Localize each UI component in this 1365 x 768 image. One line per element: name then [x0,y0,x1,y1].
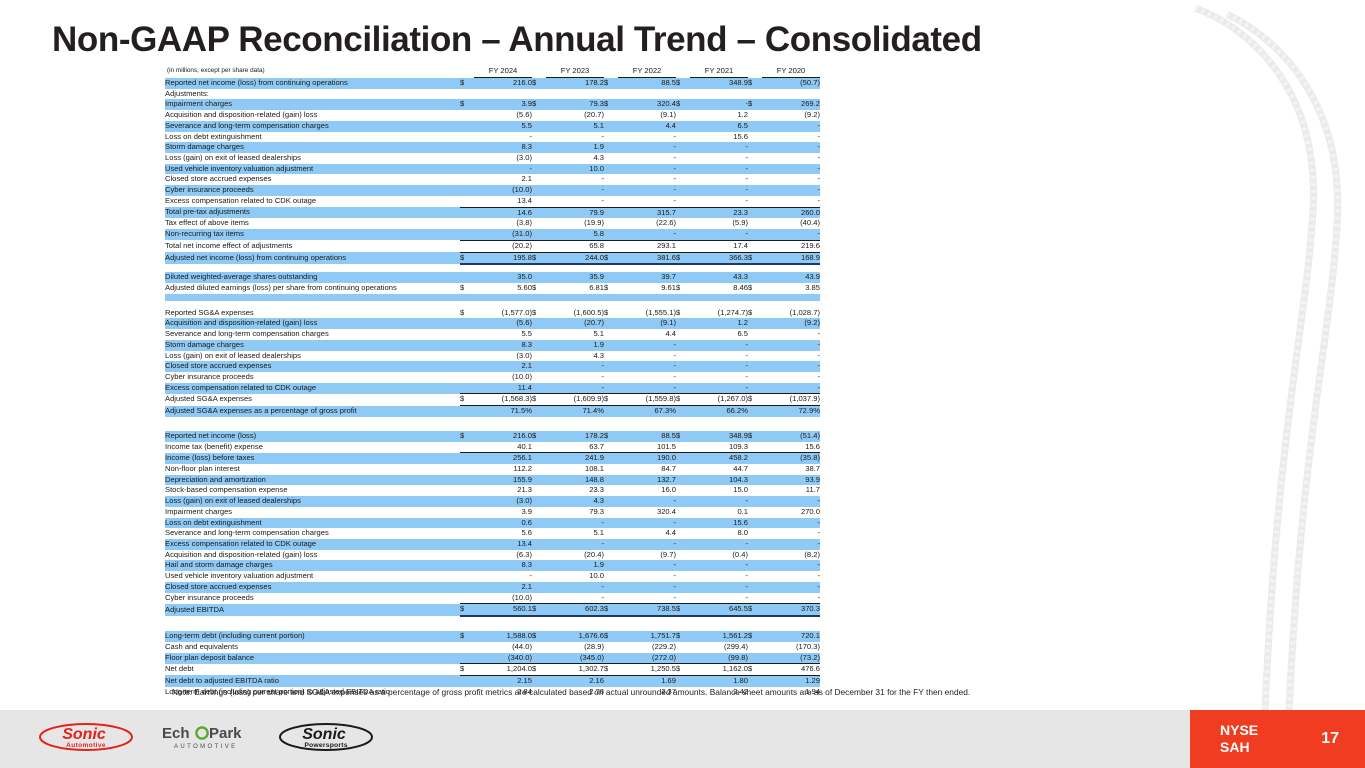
currency-symbol-cell [532,653,546,664]
value-cell: - [546,196,604,207]
currency-symbol-cell [676,207,690,218]
value-cell: 2.1 [474,582,532,593]
value-cell: 244.0 [546,252,604,264]
currency-symbol-cell [532,207,546,218]
currency-symbol-cell [532,496,546,507]
currency-symbol-cell [460,340,474,351]
value-cell: - [690,99,748,110]
value-cell: (272.0) [618,653,676,664]
value-cell: - [690,582,748,593]
value-cell: (0.4) [690,550,748,561]
currency-symbol-cell [532,464,546,475]
value-cell: 109.3 [690,442,748,453]
currency-symbol-cell [748,272,762,283]
table-row: Cash and equivalents(44.0)(28.9)(229.2)(… [165,642,820,653]
value-cell: 155.9 [474,475,532,486]
currency-symbol-cell: $ [748,99,762,110]
value-cell: - [690,361,748,372]
value-cell: 1.80 [690,675,748,686]
nyse-ticker-badge: NYSE SAH 17 [1190,710,1365,768]
table-row: Severance and long-term compensation cha… [165,528,820,539]
currency-symbol-cell [460,229,474,240]
value-cell: - [474,132,532,143]
currency-symbol-cell [748,507,762,518]
table-row: Loss on debt extinguishment---15.6- [165,132,820,143]
row-label: Severance and long-term compensation cha… [165,528,460,539]
value-cell: - [690,571,748,582]
currency-symbol-cell [604,539,618,550]
value-cell: - [546,185,604,196]
spacer-cell [165,264,820,272]
currency-symbol-cell: $ [676,308,690,319]
value-cell: - [762,582,820,593]
currency-symbol-cell [604,372,618,383]
currency-symbol-cell [748,642,762,653]
value-cell: 15.6 [690,518,748,529]
value-cell: 1,561.2 [690,631,748,642]
currency-symbol-cell [676,372,690,383]
row-label: Hail and storm damage charges [165,560,460,571]
value-cell: (51.4) [762,431,820,442]
value-cell: 148.8 [546,475,604,486]
table-row: Reported net income (loss)$216.0$178.2$8… [165,431,820,442]
row-label: Used vehicle inventory valuation adjustm… [165,164,460,175]
value-cell: (299.4) [690,642,748,653]
value-cell: - [690,153,748,164]
value-cell: - [690,174,748,185]
table-row: Closed store accrued expenses2.1---- [165,174,820,185]
value-cell: - [618,383,676,394]
value-cell: (10.0) [474,372,532,383]
currency-symbol-cell [460,675,474,686]
table-row: Total net income effect of adjustments(2… [165,240,820,252]
value-cell: 1,250.5 [618,664,676,676]
currency-symbol-cell [748,361,762,372]
currency-symbol-cell [532,539,546,550]
currency-symbol-cell [676,229,690,240]
value-cell: 4.3 [546,496,604,507]
currency-symbol-cell [604,485,618,496]
value-cell: 8.0 [690,528,748,539]
value-cell: 63.7 [546,442,604,453]
currency-symbol-cell [460,121,474,132]
value-cell: 2.1 [474,361,532,372]
currency-symbol-cell [532,383,546,394]
currency-symbol-cell [532,485,546,496]
value-cell: (1,577.0) [474,308,532,319]
value-cell: - [618,571,676,582]
currency-symbol-cell [532,218,546,229]
currency-symbol-cell: $ [532,308,546,319]
value-cell: 178.2 [546,431,604,442]
currency-symbol-cell [748,653,762,664]
value-cell: (19.9) [546,218,604,229]
currency-symbol-cell: $ [676,252,690,264]
currency-symbol-cell [460,453,474,464]
value-cell: 1,751.7 [618,631,676,642]
currency-symbol-cell [748,351,762,362]
value-cell: 1.2 [690,318,748,329]
value-cell: 6.5 [690,121,748,132]
value-cell: 104.3 [690,475,748,486]
currency-symbol-cell [748,329,762,340]
value-cell: (5.9) [690,218,748,229]
currency-symbol-cell: $ [604,631,618,642]
row-label: Storm damage charges [165,142,460,153]
currency-symbol-cell [748,383,762,394]
currency-symbol-cell [460,372,474,383]
currency-symbol-cell [748,528,762,539]
currency-symbol-cell [748,164,762,175]
currency-symbol-cell [532,571,546,582]
value-cell: 1.29 [762,675,820,686]
currency-symbol-cell [604,329,618,340]
row-label: Non-recurring tax items [165,229,460,240]
row-label: Loss on debt extinguishment [165,518,460,529]
svg-text:Automotive: Automotive [66,742,106,749]
currency-symbol-cell: $ [460,604,474,616]
currency-symbol-cell: $ [604,431,618,442]
value-cell: 3.9 [474,507,532,518]
currency-symbol-cell [532,518,546,529]
currency-symbol-cell: $ [532,78,546,89]
value-cell: - [762,361,820,372]
value-cell: 1.9 [546,560,604,571]
currency-symbol-cell [676,218,690,229]
page-number: 17 [1321,730,1339,748]
currency-symbol-cell [676,164,690,175]
row-label: Cyber insurance proceeds [165,372,460,383]
currency-symbol-cell: $ [604,283,618,294]
value-cell: 1,204.0 [474,664,532,676]
value-cell: - [762,528,820,539]
currency-symbol-cell [460,89,474,100]
row-label: Net debt [165,664,460,676]
value-cell: - [546,361,604,372]
currency-symbol-cell [532,442,546,453]
row-label: Floor plan deposit balance [165,653,460,664]
value-cell: 79.3 [546,99,604,110]
currency-symbol-cell [676,142,690,153]
currency-symbol-cell [604,132,618,143]
value-cell: 3.9 [474,99,532,110]
value-cell: - [618,196,676,207]
currency-symbol-cell [676,110,690,121]
value-cell: - [762,372,820,383]
value-cell: (10.0) [474,593,532,604]
value-cell: 79.3 [546,507,604,518]
tire-track-watermark [1185,0,1365,712]
spacer-cell [165,616,820,624]
value-cell: - [690,560,748,571]
value-cell: 0.6 [474,518,532,529]
row-label: Loss (gain) on exit of leased dealership… [165,153,460,164]
table-footnote: Note: Earnings (loss) per share and SG&A… [172,687,970,697]
currency-symbol-cell: $ [748,431,762,442]
value-cell: 23.3 [690,207,748,218]
value-cell: - [762,383,820,394]
currency-symbol-cell [460,528,474,539]
currency-symbol-cell [676,496,690,507]
value-cell: 11.7 [762,485,820,496]
value-cell: - [618,153,676,164]
row-label: Adjusted net income (loss) from continui… [165,252,460,264]
currency-symbol-cell [676,329,690,340]
currency-symbol-cell [460,475,474,486]
value-cell: 1,676.6 [546,631,604,642]
row-label: Impairment charges [165,507,460,518]
currency-symbol-cell [604,442,618,453]
currency-symbol-cell [532,229,546,240]
value-cell: 35.0 [474,272,532,283]
value-cell: 2.16 [546,675,604,686]
table-row: Acquisition and disposition-related (gai… [165,318,820,329]
currency-symbol-cell [460,110,474,121]
currency-symbol-cell [676,593,690,604]
currency-symbol-cell [676,560,690,571]
currency-symbol-cell: $ [532,604,546,616]
currency-symbol-cell [676,653,690,664]
value-cell: - [762,164,820,175]
value-cell: (1,555.1) [618,308,676,319]
currency-symbol-cell: $ [676,99,690,110]
currency-symbol-cell [604,642,618,653]
currency-symbol-cell: $ [676,431,690,442]
value-cell: - [690,539,748,550]
currency-symbol-cell: $ [748,252,762,264]
currency-symbol-cell [460,642,474,653]
currency-symbol-cell [460,272,474,283]
currency-symbol-cell: $ [604,99,618,110]
currency-symbol-cell [748,240,762,252]
value-cell: - [474,571,532,582]
value-cell: 44.7 [690,464,748,475]
value-cell: - [618,351,676,362]
currency-symbol-cell [532,507,546,518]
currency-symbol-cell [604,207,618,218]
currency-symbol-cell [676,571,690,582]
row-label: Total pre-tax adjustments [165,207,460,218]
value-cell: - [690,496,748,507]
value-cell: - [762,593,820,604]
value-cell: 5.1 [546,329,604,340]
table-row: Floor plan deposit balance(340.0)(345.0)… [165,653,820,664]
row-label: Acquisition and disposition-related (gai… [165,318,460,329]
currency-symbol-cell [460,539,474,550]
row-label: Net debt to adjusted EBITDA ratio [165,675,460,686]
currency-symbol-cell [532,185,546,196]
row-label: Severance and long-term compensation cha… [165,329,460,340]
value-cell [690,89,748,100]
value-cell: (1,028.7) [762,308,820,319]
currency-symbol-cell [460,240,474,252]
currency-symbol-cell: $ [748,394,762,406]
table-spacer-row [165,417,820,424]
table-row: Income (loss) before taxes256.1241.9190.… [165,453,820,464]
currency-symbol-cell [532,240,546,252]
value-cell: (99.8) [690,653,748,664]
currency-symbol-cell [748,372,762,383]
currency-symbol-cell: $ [748,664,762,676]
value-cell: 645.5 [690,604,748,616]
value-cell: 269.2 [762,99,820,110]
table-row: Non-recurring tax items(31.0)5.8--- [165,229,820,240]
value-cell: - [618,582,676,593]
table-row: Adjusted net income (loss) from continui… [165,252,820,264]
row-label: Reported net income (loss) [165,431,460,442]
value-cell: 15.6 [690,132,748,143]
svg-text:Sonic: Sonic [62,726,106,743]
currency-symbol-cell [460,550,474,561]
currency-symbol-cell [604,361,618,372]
currency-symbol-cell: $ [676,604,690,616]
table-row: Net debt$1,204.0$1,302.7$1,250.5$1,162.0… [165,664,820,676]
row-label: Reported net income (loss) from continui… [165,78,460,89]
table-spacer-row [165,624,820,631]
currency-symbol-cell [532,372,546,383]
value-cell: 43.9 [762,272,820,283]
currency-symbol-cell: $ [532,631,546,642]
currency-symbol-cell: $ [748,308,762,319]
currency-symbol-cell [676,453,690,464]
value-cell: 9.61 [618,283,676,294]
currency-symbol-cell [676,132,690,143]
currency-symbol-cell [604,196,618,207]
row-label: Cyber insurance proceeds [165,593,460,604]
value-cell: (20.4) [546,550,604,561]
value-cell: (20.2) [474,240,532,252]
currency-symbol-cell [676,361,690,372]
exchange-name: NYSE [1220,722,1258,739]
table-row: Loss (gain) on exit of leased dealership… [165,496,820,507]
header-spacer-cell [460,64,474,78]
row-label: Cash and equivalents [165,642,460,653]
currency-symbol-cell [748,132,762,143]
value-cell: 195.8 [474,252,532,264]
row-label: Loss (gain) on exit of leased dealership… [165,351,460,362]
table-row: Stock-based compensation expense21.323.3… [165,485,820,496]
value-cell [546,89,604,100]
value-cell: (3.0) [474,496,532,507]
value-cell: 8.3 [474,560,532,571]
value-cell: 21.3 [474,485,532,496]
currency-symbol-cell [604,496,618,507]
currency-symbol-cell: $ [460,431,474,442]
table-row: Net debt to adjusted EBITDA ratio2.152.1… [165,675,820,686]
table-row: Excess compensation related to CDK outag… [165,539,820,550]
value-cell: 720.1 [762,631,820,642]
currency-symbol-cell: $ [748,283,762,294]
value-cell: - [762,340,820,351]
value-cell: (9.7) [618,550,676,561]
currency-symbol-cell: $ [748,604,762,616]
value-cell: 241.9 [546,453,604,464]
currency-symbol-cell: $ [532,252,546,264]
value-cell [618,89,676,100]
currency-symbol-cell: $ [460,99,474,110]
value-cell: 602.3 [546,604,604,616]
value-cell: 40.1 [474,442,532,453]
currency-symbol-cell [460,653,474,664]
value-cell: 1.2 [690,110,748,121]
currency-symbol-cell [676,464,690,475]
currency-symbol-cell [748,518,762,529]
value-cell: 88.5 [618,78,676,89]
value-cell: (1,037.9) [762,394,820,406]
value-cell: (73.2) [762,653,820,664]
currency-symbol-cell [748,340,762,351]
table-row: Hail and storm damage charges8.31.9--- [165,560,820,571]
currency-symbol-cell [460,507,474,518]
value-cell: - [690,185,748,196]
value-cell: 5.1 [546,121,604,132]
currency-symbol-cell [748,539,762,550]
currency-symbol-cell [604,560,618,571]
table-row: Storm damage charges8.31.9--- [165,142,820,153]
currency-symbol-cell [460,518,474,529]
table-row: Adjusted EBITDA$560.1$602.3$738.5$645.5$… [165,604,820,616]
currency-symbol-cell: $ [532,394,546,406]
row-label: Excess compensation related to CDK outag… [165,383,460,394]
value-cell: - [762,185,820,196]
table-row: Reported SG&A expenses$(1,577.0)$(1,600.… [165,308,820,319]
currency-symbol-cell [604,142,618,153]
currency-symbol-cell [532,132,546,143]
value-cell: 13.4 [474,196,532,207]
value-cell: - [762,174,820,185]
value-cell: (229.2) [618,642,676,653]
currency-symbol-cell [748,453,762,464]
value-cell: 320.4 [618,99,676,110]
value-cell: 79.9 [546,207,604,218]
currency-symbol-cell [748,174,762,185]
currency-symbol-cell [676,153,690,164]
value-cell: (8.2) [762,550,820,561]
value-cell: 4.4 [618,121,676,132]
value-cell: 458.2 [690,453,748,464]
currency-symbol-cell: $ [676,631,690,642]
value-cell: 65.8 [546,240,604,252]
value-cell: 43.3 [690,272,748,283]
currency-symbol-cell [460,174,474,185]
value-cell: 4.4 [618,528,676,539]
value-cell: (340.0) [474,653,532,664]
value-cell: - [474,164,532,175]
column-header-2: FY 2023 [546,64,604,78]
value-cell: - [762,196,820,207]
value-cell: 216.0 [474,431,532,442]
svg-text:AUTOMOTIVE: AUTOMOTIVE [174,744,238,750]
value-cell: 2.15 [474,675,532,686]
value-cell: 132.7 [618,475,676,486]
value-cell: 71.4% [546,406,604,417]
value-cell: 6.5 [690,329,748,340]
value-cell: - [690,351,748,362]
currency-symbol-cell [532,550,546,561]
currency-symbol-cell: $ [748,631,762,642]
table-row: Cyber insurance proceeds(10.0)---- [165,185,820,196]
currency-symbol-cell [748,121,762,132]
row-label: Reported SG&A expenses [165,308,460,319]
value-cell: - [690,196,748,207]
value-cell: (9.2) [762,110,820,121]
currency-symbol-cell: $ [532,664,546,676]
currency-symbol-cell [532,164,546,175]
column-header-5: FY 2020 [762,64,820,78]
value-cell: - [762,571,820,582]
currency-symbol-cell [748,496,762,507]
currency-symbol-cell: $ [604,252,618,264]
